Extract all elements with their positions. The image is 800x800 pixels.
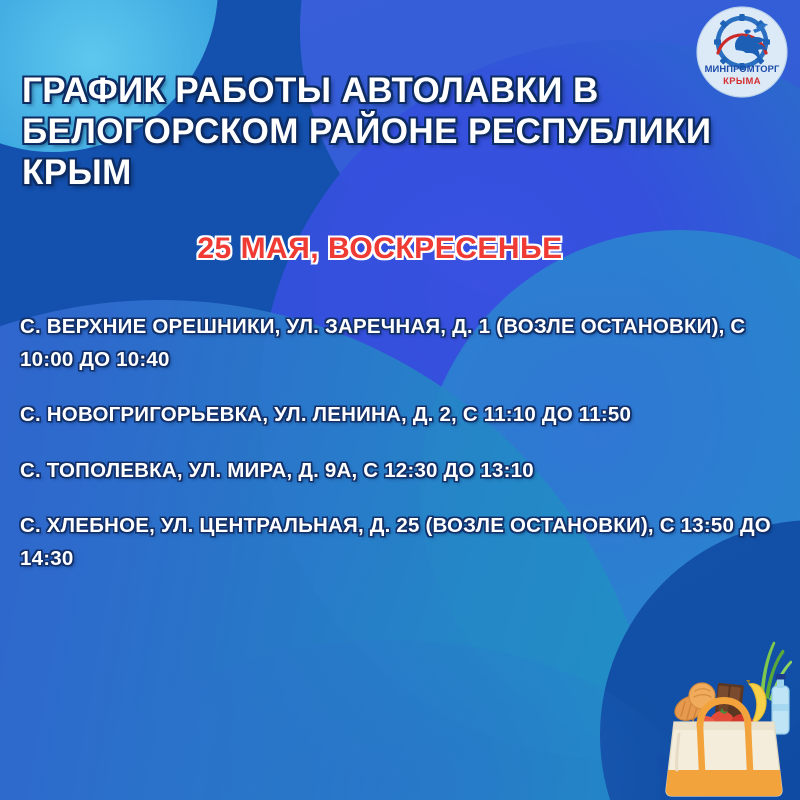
list-item: С. ВЕРХНИЕ ОРЕШНИКИ, УЛ. ЗАРЕЧНАЯ, Д. 1 … (20, 310, 780, 376)
list-item: С. ХЛЕБНОЕ, УЛ. ЦЕНТРАЛЬНАЯ, Д. 25 (ВОЗЛ… (20, 509, 780, 575)
minpromtorg-crimea-logo: МИНПРОМТОРГ КРЫМА (696, 6, 788, 98)
stops-list: С. ВЕРХНИЕ ОРЕШНИКИ, УЛ. ЗАРЕЧНАЯ, Д. 1 … (20, 310, 780, 597)
date-heading: 25 МАЯ, ВОСКРЕСЕНЬЕ (0, 232, 760, 266)
page-title: ГРАФИК РАБОТЫ АВТОЛАВКИ В БЕЛОГОРСКОМ РА… (22, 71, 752, 194)
poster-canvas: МИНПРОМТОРГ КРЫМА ГРАФИК РАБОТЫ АВТОЛАВК… (0, 0, 800, 800)
list-item: С. НОВОГРИГОРЬЕВКА, УЛ. ЛЕНИНА, Д. 2, С … (20, 398, 780, 431)
logo-line-1: МИНПРОМТОРГ (705, 63, 780, 74)
grocery-bag-illustration (654, 630, 794, 798)
list-item: С. ТОПОЛЕВКА, УЛ. МИРА, Д. 9А, С 12:30 Д… (20, 454, 780, 487)
logo-line-2: КРЫМА (723, 75, 761, 86)
